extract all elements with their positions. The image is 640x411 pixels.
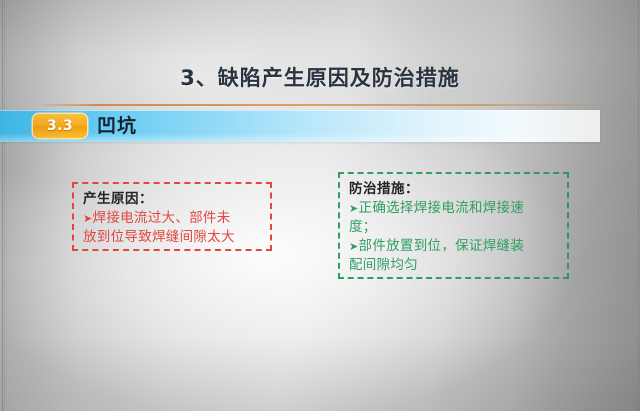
measure-bullet-1: ➤正确选择焊接电流和焊接速 (349, 199, 559, 218)
cause-box-heading: 产生原因： (83, 189, 262, 209)
section-number-badge: 3.3 (33, 114, 87, 138)
cause-bullet-1-line1: 焊接电流过大、部件未 (93, 210, 231, 226)
slide-canvas: 3、缺陷产生原因及防治措施 3.3 凹坑 产生原因： ➤焊接电流过大、部件未 放… (0, 0, 640, 411)
measure-bullet-2-line2: 配间隙均匀 (349, 256, 559, 275)
measure-box-heading: 防治措施： (349, 179, 559, 199)
measure-box: 防治措施： ➤正确选择焊接电流和焊接速 度； ➤部件放置到位，保证焊缝装 配间隙… (338, 172, 569, 279)
title-underline-rule (42, 104, 606, 106)
measure-bullet-1-line2: 度； (349, 218, 559, 237)
section-header-bar (0, 110, 600, 142)
bullet-arrow-icon: ➤ (349, 240, 359, 253)
bullet-arrow-icon: ➤ (83, 212, 93, 225)
page-title: 3、缺陷产生原因及防治措施 (0, 62, 640, 92)
measure-bullet-2-line1: 部件放置到位，保证焊缝装 (359, 238, 525, 254)
cause-bullet-1: ➤焊接电流过大、部件未 (83, 209, 262, 228)
cause-box: 产生原因： ➤焊接电流过大、部件未 放到位导致焊缝间隙太大 (72, 182, 272, 251)
cause-bullet-1-line2: 放到位导致焊缝间隙太大 (83, 228, 262, 247)
section-title: 凹坑 (97, 112, 137, 140)
measure-bullet-2: ➤部件放置到位，保证焊缝装 (349, 237, 559, 256)
bullet-arrow-icon: ➤ (349, 202, 359, 215)
measure-bullet-1-line1: 正确选择焊接电流和焊接速 (359, 200, 525, 216)
